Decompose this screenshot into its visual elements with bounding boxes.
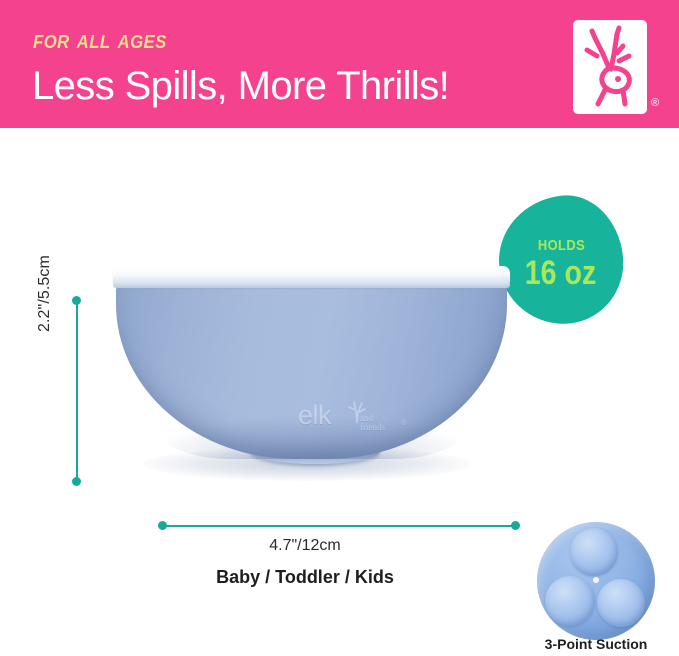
emboss-registered-mark: ®	[401, 418, 407, 427]
suction-cup-right	[597, 579, 645, 627]
bowl-embossed-brand: elk and friends ®	[298, 402, 414, 448]
emboss-subtext-line2: friends	[360, 422, 385, 432]
suction-cup-left	[545, 576, 595, 626]
suction-center-dot	[593, 577, 599, 583]
suction-caption: 3-Point Suction	[545, 636, 648, 652]
badge-value: 16 oz	[525, 256, 596, 292]
audience-caption: Baby / Toddler / Kids	[216, 567, 394, 588]
emboss-brand-text: elk	[298, 400, 331, 430]
elk-head-logo-icon	[573, 20, 647, 114]
height-measurement-label: 2.2"/5.5cm	[36, 255, 54, 332]
product-listing-image: For All Ages Less Spills, More Thrills!	[0, 0, 679, 656]
width-measurement-line	[163, 525, 515, 527]
header-banner: For All Ages Less Spills, More Thrills!	[0, 0, 679, 128]
badge-label: Holds	[537, 233, 584, 255]
product-bowl-figure: elk and friends ®	[100, 255, 520, 510]
height-endpoint-bottom-dot	[72, 477, 81, 486]
bowl-lid-rim	[113, 282, 510, 288]
logo-registered-mark: ®	[651, 98, 659, 109]
three-point-suction-icon	[537, 522, 655, 640]
emboss-subtext: and friends	[360, 414, 385, 433]
width-endpoint-right-dot	[511, 521, 520, 530]
page-title: Less Spills, More Thrills!	[32, 64, 449, 108]
height-endpoint-top-dot	[72, 296, 81, 305]
height-measurement-line	[76, 302, 78, 480]
width-measurement-label: 4.7"/12cm	[269, 537, 341, 555]
eyebrow-text: For All Ages	[33, 28, 167, 53]
suction-cup-top	[570, 528, 618, 576]
width-endpoint-left-dot	[158, 521, 167, 530]
